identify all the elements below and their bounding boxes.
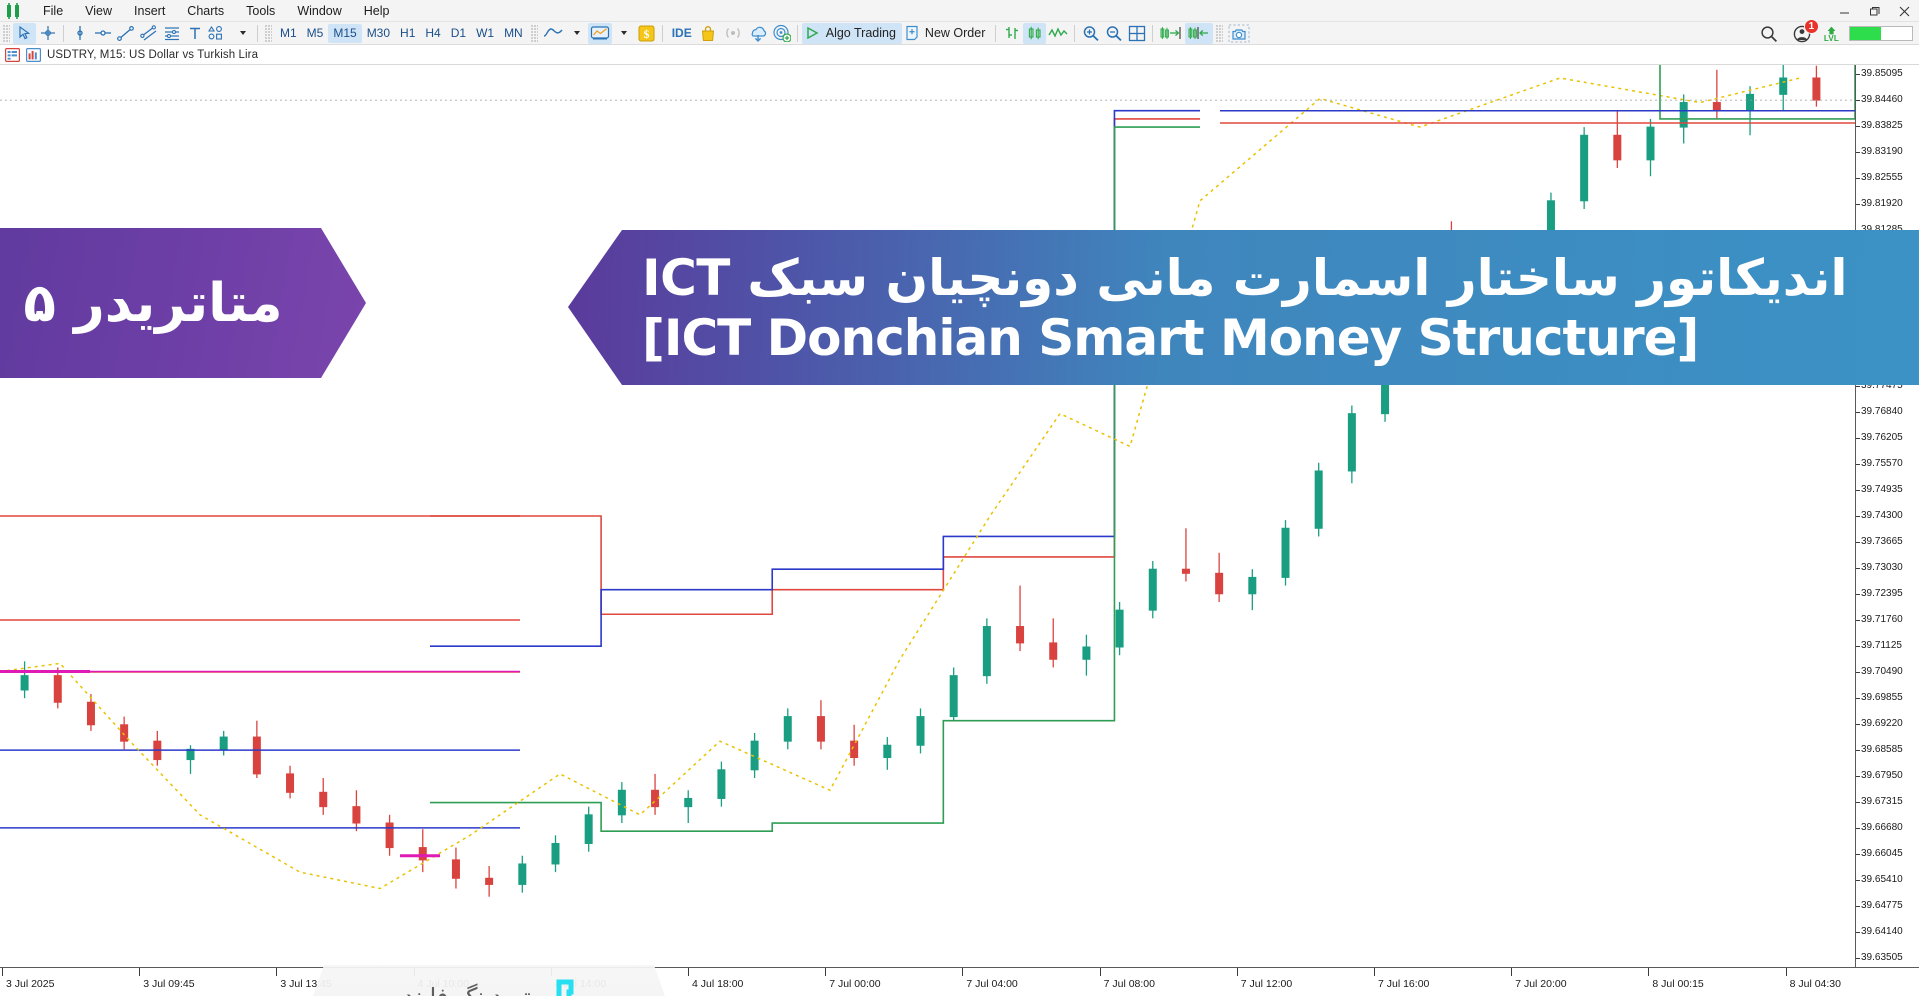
timeframe-m30[interactable]: M30 [362,24,395,43]
minimize-button[interactable] [1829,0,1859,22]
menu-item-window[interactable]: Window [286,1,352,21]
timeframe-h4[interactable]: H4 [420,24,445,43]
banner-left-text: متاتریدر ۵ [23,273,308,334]
price-tick [1856,724,1860,725]
chart-plot-svg [0,65,1855,967]
grid-layout-icon[interactable] [1125,23,1148,44]
price-tick [1856,438,1860,439]
watermark: تریدینگ فایندر Trading Finder [290,965,688,996]
price-tick [1856,646,1860,647]
new-order-button[interactable]: New Order [902,23,991,44]
trendline-icon[interactable] [114,23,137,44]
price-label: 39.66680 [1861,823,1903,833]
ide-label[interactable]: IDE [667,23,697,44]
time-label: 8 Jul 00:15 [1652,978,1703,990]
close-button[interactable] [1889,0,1919,22]
price-label: 39.67950 [1861,771,1903,781]
menu-item-charts[interactable]: Charts [176,1,235,21]
price-tick [1856,542,1860,543]
price-tick [1856,750,1860,751]
price-label: 39.74935 [1861,485,1903,495]
price-tick [1856,204,1860,205]
toolbar-separator [63,25,64,42]
chart-header-bar: USDTRY, M15: US Dollar vs Turkish Lira [0,45,1919,65]
chart-plot[interactable] [0,65,1855,967]
time-label: 7 Jul 00:00 [829,978,880,990]
menu-item-list: File View Insert Charts Tools Window Hel… [32,1,401,21]
line-chart-icon[interactable] [541,23,565,44]
toolbar-grip[interactable] [265,25,272,42]
price-label: 39.76205 [1861,433,1903,443]
time-label: 7 Jul 04:00 [966,978,1017,990]
metatrader-logo-icon [4,1,26,21]
timeframe-m5[interactable]: M5 [302,24,329,43]
autoscroll-left-icon[interactable] [1185,23,1213,44]
time-tick [2,968,3,976]
time-tick [962,968,963,976]
level-progress-fill [1850,27,1881,40]
time-tick [1374,968,1375,976]
fibonacci-retracement-icon[interactable] [160,23,183,44]
price-tick [1856,828,1860,829]
vertical-line-icon[interactable] [68,23,91,44]
level-indicator[interactable]: LVL [1824,26,1839,42]
timeframe-h1[interactable]: H1 [395,24,420,43]
toolbar-separator [797,25,798,42]
level-progress-meter [1849,26,1913,41]
price-label: 39.68585 [1861,745,1903,755]
price-tick [1856,568,1860,569]
price-label: 39.83825 [1861,121,1903,131]
price-label: 39.71760 [1861,615,1903,625]
notification-count-badge: 1 [1804,19,1819,34]
price-label: 39.74300 [1861,511,1903,521]
toolbar-grip[interactable] [1216,25,1223,42]
chart-title: USDTRY, M15: US Dollar vs Turkish Lira [47,49,258,61]
time-label: 8 Jul 04:30 [1790,978,1841,990]
price-label: 39.65410 [1861,875,1903,885]
time-tick [139,968,140,976]
horizontal-line-icon[interactable] [91,23,114,44]
toolbar-grip[interactable] [531,25,538,42]
watermark-text: تریدینگ فایندر Trading Finder [381,985,530,996]
line-graph-icon[interactable] [1046,23,1070,44]
price-tick [1856,958,1860,959]
price-tick [1856,776,1860,777]
cloud-upload-icon[interactable] [746,23,770,44]
zoom-in-icon[interactable] [1079,23,1102,44]
indicators-icon[interactable] [588,23,612,44]
maximize-restore-button[interactable] [1859,0,1889,22]
price-label: 39.73030 [1861,563,1903,573]
time-label: 7 Jul 08:00 [1104,978,1155,990]
play-triangle-icon [805,26,821,40]
shapes-icon[interactable] [206,23,230,44]
algo-trading-button[interactable]: Algo Trading [802,23,902,44]
crosshair-icon[interactable] [36,23,59,44]
price-label: 39.83190 [1861,147,1903,157]
price-label: 39.67315 [1861,797,1903,807]
screenshot-camera-icon[interactable] [1226,23,1252,44]
banner-left: متاتریدر ۵ [0,228,366,378]
price-tick [1856,594,1860,595]
timeframe-mn[interactable]: MN [499,24,528,43]
price-label: 39.69220 [1861,719,1903,729]
candlestick-icon[interactable] [1023,23,1046,44]
price-tick [1856,412,1860,413]
menu-bar: File View Insert Charts Tools Window Hel… [0,0,1919,22]
trading-finder-logo-icon [545,978,597,996]
price-label: 39.71125 [1861,641,1902,651]
toolbar-separator [1152,25,1153,42]
text-label-icon[interactable] [183,23,206,44]
svg-text:$: $ [643,27,649,41]
price-tick [1856,854,1860,855]
time-tick [1511,968,1512,976]
menu-item-insert[interactable]: Insert [123,1,176,21]
dollar-icon[interactable]: $ [635,23,658,44]
menu-item-file[interactable]: File [32,1,74,21]
shift-end-right-icon[interactable] [1157,23,1185,44]
price-label: 39.64140 [1861,927,1903,937]
banner-right-line2: [ICT Donchian Smart Money Structure] [642,309,1698,367]
price-label: 39.63505 [1861,953,1903,963]
toolbar-separator [257,25,258,42]
price-tick [1856,490,1860,491]
toolbar-separator [995,25,996,42]
zoom-out-icon[interactable] [1102,23,1125,44]
price-tick [1856,152,1860,153]
new-order-label: New Order [925,26,985,40]
price-tick [1856,464,1860,465]
time-label: 7 Jul 16:00 [1378,978,1429,990]
toolbar-grip[interactable] [3,25,10,42]
price-label: 39.70490 [1861,667,1903,677]
time-tick [1648,968,1649,976]
price-label: 39.66045 [1861,849,1903,859]
price-tick [1856,906,1860,907]
price-tick [1856,100,1860,101]
main-toolbar: M1 M5 M15 M30 H1 H4 D1 W1 MN $ [0,22,1919,45]
time-label: 7 Jul 12:00 [1241,978,1292,990]
price-label: 39.84460 [1861,95,1903,105]
time-tick [1786,968,1787,976]
time-label: 7 Jul 20:00 [1515,978,1566,990]
signals-broadcast-icon[interactable] [720,23,746,44]
metatrader-window: File View Insert Charts Tools Window Hel… [0,0,1919,996]
cursor-arrow-icon[interactable] [13,23,36,44]
timeframe-d1[interactable]: D1 [446,24,471,43]
chart-canvas-area[interactable]: 39.8509539.8446039.8382539.8319039.82555… [0,65,1919,996]
menu-item-help[interactable]: Help [353,1,401,21]
price-tick [1856,386,1860,387]
market-bag-icon[interactable] [697,23,720,44]
line-chart-dropdown-caret[interactable] [565,23,588,44]
price-label: 39.85095 [1861,69,1903,79]
time-label: 4 Jul 18:00 [692,978,743,990]
price-tick [1856,932,1860,933]
price-scale[interactable]: 39.8509539.8446039.8382539.8319039.82555… [1855,65,1919,967]
toolbar-separator [1074,25,1075,42]
vps-network-icon[interactable] [770,23,793,44]
price-label: 39.69855 [1861,693,1903,703]
price-tick [1856,880,1860,881]
chart-list-icon[interactable] [5,48,20,62]
time-label: 3 Jul 09:45 [143,978,194,990]
level-label: LVL [1824,35,1839,42]
price-tick [1856,178,1860,179]
price-tick [1856,672,1860,673]
indicators-dropdown-caret[interactable] [612,23,635,44]
watermark-persian: تریدینگ فایندر [392,985,531,996]
price-tick [1856,74,1860,75]
equidistant-channel-icon[interactable] [137,23,160,44]
price-label: 39.76840 [1861,407,1903,417]
account-notifications-icon[interactable]: 1 [1791,23,1814,44]
toolbar-right-cluster: 1 LVL [1758,22,1913,45]
price-tick [1856,698,1860,699]
time-label: 3 Jul 2025 [6,978,54,990]
search-icon[interactable] [1758,23,1781,44]
banner-right-line1: اندیکاتور ساختار اسمارت مانی دونچیان سبک… [642,249,1848,307]
price-label: 39.64775 [1861,901,1903,911]
time-tick [276,968,277,976]
time-scale[interactable]: 3 Jul 20253 Jul 09:453 Jul 13:454 Jul 10… [0,967,1919,996]
menu-item-view[interactable]: View [74,1,123,21]
price-tick [1856,126,1860,127]
bar-chart-icon[interactable] [1000,23,1023,44]
menu-item-tools[interactable]: Tools [235,1,286,21]
price-tick [1856,802,1860,803]
price-label: 39.82555 [1861,173,1903,183]
price-tick [1856,620,1860,621]
time-tick [1237,968,1238,976]
time-tick [825,968,826,976]
timeframe-w1[interactable]: W1 [471,24,499,43]
price-label: 39.73665 [1861,537,1903,547]
toolbar-separator [662,25,663,42]
chart-window-icon[interactable] [26,48,41,62]
price-label: 39.72395 [1861,589,1903,599]
new-order-plus-icon [905,25,920,41]
banner-right: اندیکاتور ساختار اسمارت مانی دونچیان سبک… [568,230,1919,385]
timeframe-m1[interactable]: M1 [275,24,302,43]
price-label: 39.81920 [1861,199,1903,209]
price-label: 39.75570 [1861,459,1903,469]
window-controls [1829,0,1919,22]
price-tick [1856,516,1860,517]
shapes-dropdown-caret[interactable] [230,23,253,44]
time-tick [688,968,689,976]
time-tick [1100,968,1101,976]
timeframe-m15[interactable]: M15 [328,24,361,43]
algo-trading-label: Algo Trading [826,26,896,40]
